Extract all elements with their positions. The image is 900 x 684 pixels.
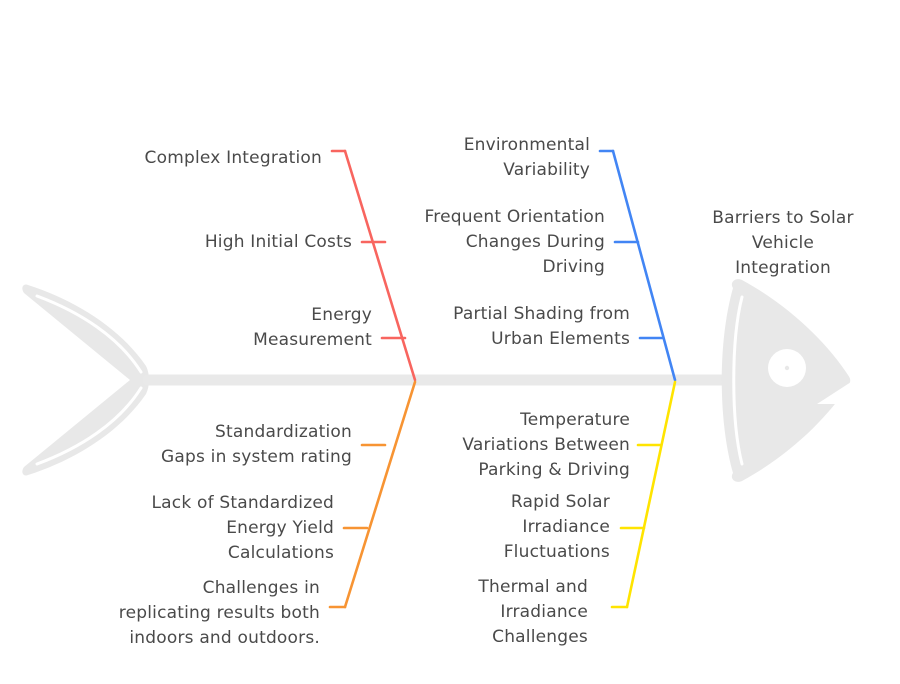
cause-label-upper-left-2: High Initial Costs (60, 230, 352, 255)
cause-label-lower-left-2: Lack of Standardized Energy Yield Calcul… (42, 491, 334, 566)
fishbone-diagram-canvas: Complex Integration High Initial Costs E… (0, 0, 900, 684)
cause-label-lower-right-3: Thermal and Irradiance Challenges (348, 575, 588, 650)
cause-label-upper-right-3: Partial Shading from Urban Elements (390, 302, 630, 352)
cause-label-lower-right-2: Rapid Solar Irradiance Fluctuations (370, 490, 610, 565)
effect-title: Barriers to Solar Vehicle Integration (690, 206, 876, 281)
cause-label-lower-left-1: Standardization Gaps in system rating (60, 420, 352, 470)
cause-label-upper-left-3: Energy Measurement (80, 303, 372, 353)
cause-label-lower-right-1: Temperature Variations Between Parking &… (390, 408, 630, 483)
fish-head (722, 279, 851, 482)
cause-label-upper-right-2: Frequent Orientation Changes During Driv… (365, 205, 605, 280)
cause-label-upper-right-1: Environmental Variability (350, 133, 590, 183)
cause-label-lower-left-3: Challenges in replicating results both i… (28, 576, 320, 651)
cause-label-upper-left-1: Complex Integration (30, 146, 322, 171)
